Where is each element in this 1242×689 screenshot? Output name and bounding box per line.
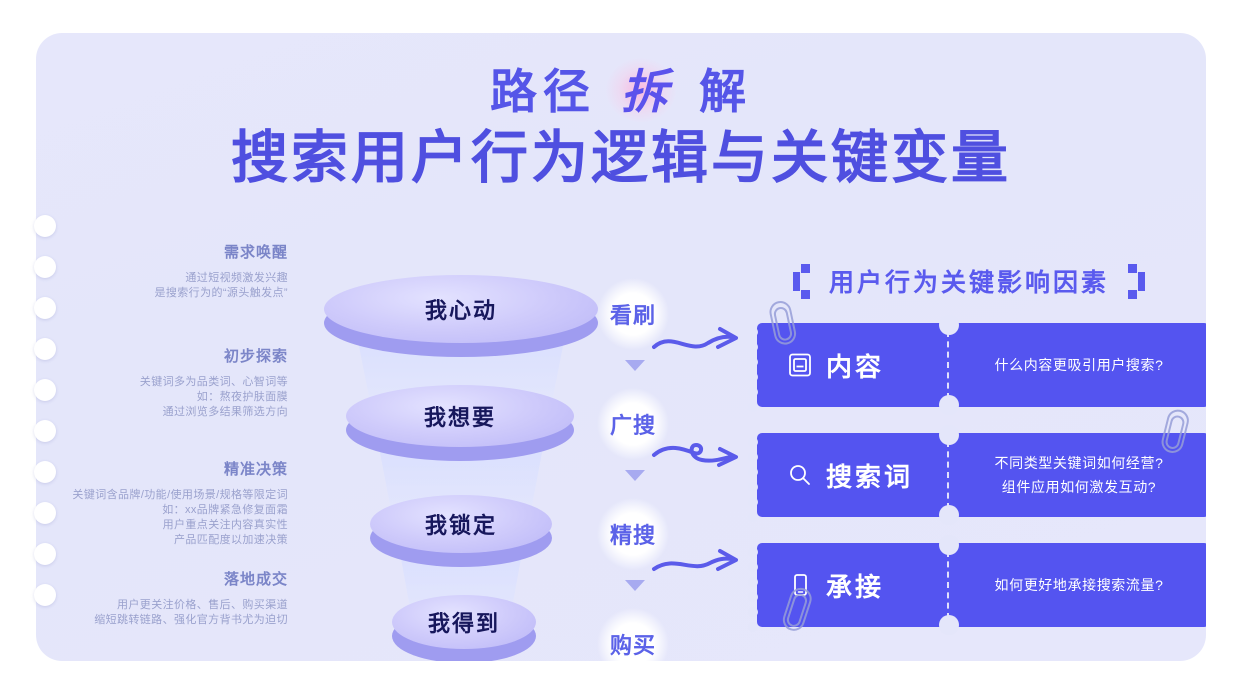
stage-title: 精准决策 bbox=[38, 458, 288, 479]
funnel-level-label: 我得到 bbox=[392, 595, 536, 649]
step-chip-4[interactable]: 购买 bbox=[597, 608, 669, 661]
stage-block-4: 落地成交 用户更关注价格、售后、购买渠道 缩短跳转链路、强化官方背书尤为迫切 bbox=[48, 568, 288, 628]
stage-line: 产品匹配度以加速决策 bbox=[38, 533, 288, 548]
bracket-right-icon bbox=[1123, 264, 1147, 298]
stage-line: 通过浏览多结果筛选方向 bbox=[58, 405, 288, 420]
binder-pin-strip bbox=[0, 215, 70, 635]
funnel-level-2: 我想要 bbox=[346, 385, 574, 447]
stage-title: 需求唤醒 bbox=[58, 241, 288, 262]
chevron-down-icon bbox=[625, 470, 645, 481]
stage-line: 如：熬夜护肤面膜 bbox=[58, 390, 288, 405]
binder-pin bbox=[0, 461, 64, 483]
ticket-notch bbox=[939, 615, 959, 635]
scallop-edge bbox=[753, 323, 762, 407]
stage-line: 用户重点关注内容真实性 bbox=[38, 518, 288, 533]
binder-pin bbox=[0, 215, 64, 237]
chevron-down-icon bbox=[625, 580, 645, 591]
scallop-edge bbox=[753, 543, 762, 627]
stage-line: 缩短跳转链路、强化官方背书尤为迫切 bbox=[48, 613, 288, 628]
scallop-edge bbox=[1204, 323, 1206, 407]
binder-pin bbox=[0, 420, 64, 442]
kicker-highlight-wrap: 拆 bbox=[615, 61, 680, 123]
poster-background: 路径 拆 解 搜索用户行为逻辑与关键变量 需求唤醒 通过短视频激发兴趣 是搜索行… bbox=[36, 33, 1206, 661]
ticket-notch bbox=[939, 535, 959, 555]
factor-card-landing[interactable]: 承接 如何更好地承接搜索流量? bbox=[757, 543, 1206, 627]
kicker-post: 解 bbox=[699, 65, 752, 118]
bracket-left-icon bbox=[791, 264, 815, 298]
panel-heading: 用户行为关键影响因素 bbox=[829, 263, 1109, 299]
binder-pin bbox=[0, 584, 64, 606]
factor-question: 什么内容更吸引用户搜索? bbox=[995, 353, 1164, 377]
kicker-pre: 路径 bbox=[490, 65, 596, 118]
binder-pin bbox=[0, 543, 64, 565]
factor-question: 如何更好地承接搜索流量? bbox=[995, 573, 1164, 597]
stage-title: 落地成交 bbox=[48, 568, 288, 589]
funnel-level-1: 我心动 bbox=[324, 275, 598, 343]
binder-pin bbox=[0, 502, 64, 524]
funnel-level-label: 我想要 bbox=[346, 385, 574, 447]
ticket-divider bbox=[947, 331, 949, 399]
ticket-notch bbox=[939, 315, 959, 335]
scallop-edge bbox=[1204, 543, 1206, 627]
factor-card-title: 搜索词 bbox=[826, 457, 913, 494]
stage-line: 关键词含品牌/功能/使用场景/规格等限定词 bbox=[38, 488, 288, 503]
ticket-notch bbox=[939, 425, 959, 445]
factor-card-questions: 如何更好地承接搜索流量? bbox=[949, 543, 1206, 627]
factor-card-title: 承接 bbox=[826, 567, 884, 604]
binder-pin bbox=[0, 379, 64, 401]
scallop-edge bbox=[1204, 433, 1206, 517]
factor-question: 不同类型关键词如何经营? bbox=[995, 451, 1164, 475]
factor-card-title: 内容 bbox=[826, 347, 884, 384]
factor-card-keyword[interactable]: 搜索词 不同类型关键词如何经营? 组件应用如何激发互动? bbox=[757, 433, 1206, 517]
search-icon bbox=[787, 462, 813, 488]
kicker-highlight: 拆 bbox=[621, 65, 674, 118]
stage-block-1: 需求唤醒 通过短视频激发兴趣 是搜索行为的“源头触发点” bbox=[58, 241, 288, 301]
kicker-title: 路径 拆 解 bbox=[36, 61, 1206, 123]
stage-line: 关键词多为品类词、心智词等 bbox=[58, 375, 288, 390]
conversion-funnel: 我心动 我想要 我锁定 我得到 bbox=[318, 269, 603, 661]
stage-line: 是搜索行为的“源头触发点” bbox=[58, 286, 288, 301]
binder-pin bbox=[0, 297, 64, 319]
ticket-notch bbox=[939, 395, 959, 415]
title-block: 路径 拆 解 搜索用户行为逻辑与关键变量 bbox=[36, 33, 1206, 191]
factor-card-questions: 什么内容更吸引用户搜索? bbox=[949, 323, 1206, 407]
funnel-level-label: 我心动 bbox=[324, 275, 598, 343]
stage-title: 初步探索 bbox=[58, 345, 288, 366]
stage-block-3: 精准决策 关键词含品牌/功能/使用场景/规格等限定词 如：xx品牌紧急修复面霜 … bbox=[38, 458, 288, 548]
factor-card-content[interactable]: 内容 什么内容更吸引用户搜索? bbox=[757, 323, 1206, 407]
factor-question: 组件应用如何激发互动? bbox=[1002, 475, 1156, 499]
chevron-down-icon bbox=[625, 360, 645, 371]
ticket-divider bbox=[947, 551, 949, 619]
stage-line: 如：xx品牌紧急修复面霜 bbox=[38, 503, 288, 518]
influence-factors-panel: 用户行为关键影响因素 bbox=[729, 255, 1206, 661]
funnel-level-label: 我锁定 bbox=[370, 495, 552, 553]
stage-line: 用户更关注价格、售后、购买渠道 bbox=[48, 598, 288, 613]
ticket-notch bbox=[939, 505, 959, 525]
page-title: 搜索用户行为逻辑与关键变量 bbox=[36, 125, 1206, 191]
scallop-edge bbox=[753, 433, 762, 517]
panel-heading-row: 用户行为关键影响因素 bbox=[729, 255, 1206, 307]
ticket-divider bbox=[947, 441, 949, 509]
stage-line: 通过短视频激发兴趣 bbox=[58, 271, 288, 286]
funnel-level-4: 我得到 bbox=[392, 595, 536, 649]
funnel-level-3: 我锁定 bbox=[370, 495, 552, 553]
factor-card-label-area: 搜索词 bbox=[757, 433, 947, 517]
binder-pin bbox=[0, 338, 64, 360]
infographic-canvas: 路径 拆 解 搜索用户行为逻辑与关键变量 需求唤醒 通过短视频激发兴趣 是搜索行… bbox=[0, 0, 1242, 689]
stage-block-2: 初步探索 关键词多为品类词、心智词等 如：熬夜护肤面膜 通过浏览多结果筛选方向 bbox=[58, 345, 288, 420]
document-icon bbox=[787, 352, 813, 378]
binder-pin bbox=[0, 256, 64, 278]
